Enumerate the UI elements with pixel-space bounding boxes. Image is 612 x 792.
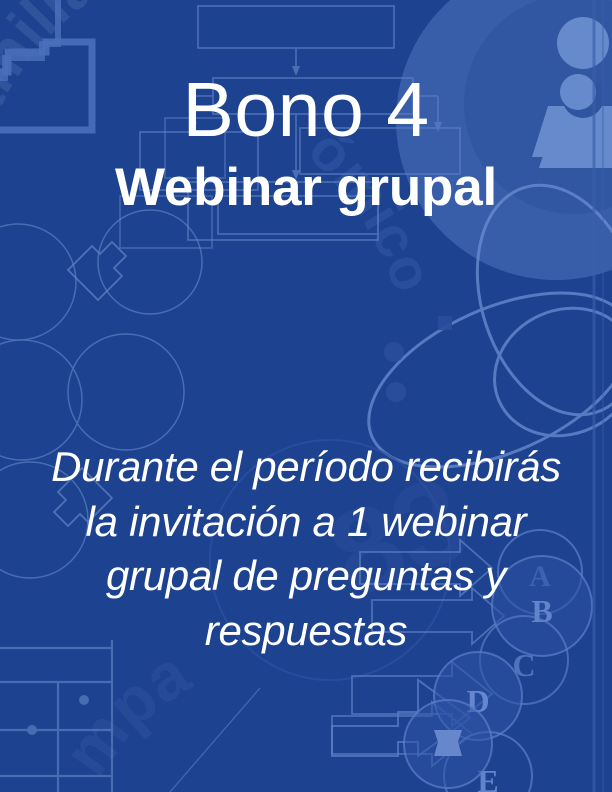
poster-content: Bono 4 Webinar grupal Durante el período…: [0, 0, 612, 792]
page-subtitle: Webinar grupal: [0, 159, 612, 216]
body-description: Durante el período recibirás la invitaci…: [34, 440, 578, 658]
title-block: Bono 4 Webinar grupal: [0, 72, 612, 216]
body-block: Durante el período recibirás la invitaci…: [0, 440, 612, 658]
poster-card: familiar ómico mpa: [0, 0, 612, 792]
page-title: Bono 4: [0, 72, 612, 149]
